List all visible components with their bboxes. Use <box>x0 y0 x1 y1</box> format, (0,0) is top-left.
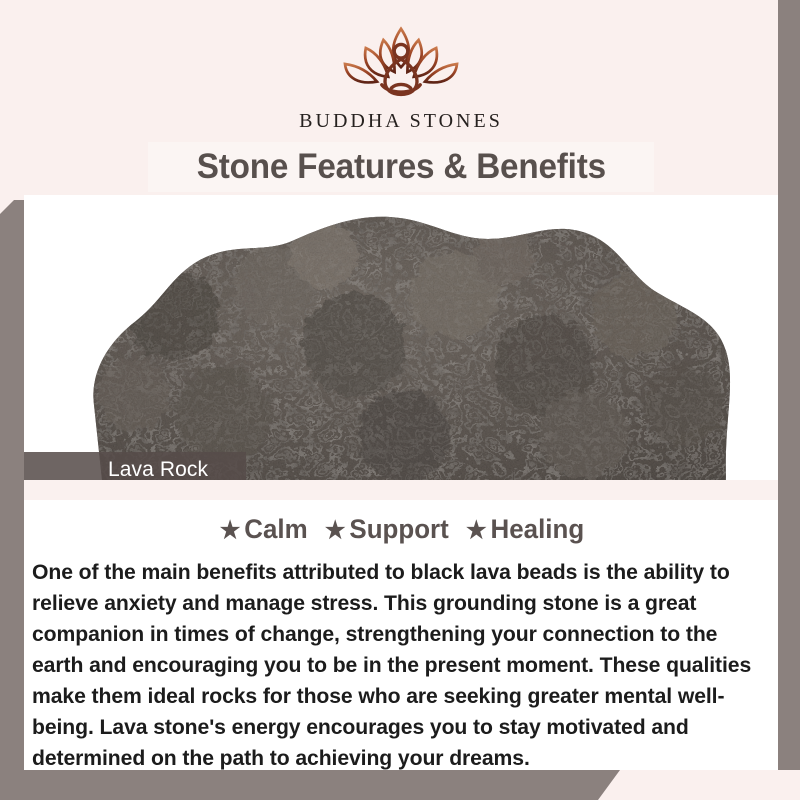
benefit-item-support: Support <box>349 514 448 544</box>
description-text: One of the main benefits attributed to b… <box>32 557 759 774</box>
benefit-item-calm: Calm <box>244 514 307 544</box>
brand-name: BUDDHA STONES <box>24 110 778 133</box>
benefits-list: ★Calm★Support★Healing <box>39 514 763 545</box>
lotus-meditation-figure-icon <box>321 16 481 108</box>
poster: BUDDHA STONES Stone Features & Benefits <box>0 0 800 800</box>
frame-band-right <box>778 30 800 770</box>
title-ribbon: Stone Features & Benefits <box>148 142 654 192</box>
benefit-item-healing: Healing <box>491 514 585 544</box>
frame-band-left <box>0 200 24 800</box>
star-icon: ★ <box>220 517 241 544</box>
star-icon: ★ <box>466 517 487 544</box>
lava-rock-photo <box>24 195 778 480</box>
star-icon: ★ <box>325 517 346 544</box>
product-caption: Lava Rock <box>108 458 208 482</box>
brand-logo: BUDDHA STONES <box>24 16 778 133</box>
page-title: Stone Features & Benefits <box>196 147 605 187</box>
section-divider <box>24 480 778 500</box>
frame-band-bottom <box>0 770 620 800</box>
product-photo <box>24 195 778 480</box>
description-panel: ★Calm★Support★Healing One of the main be… <box>24 500 778 770</box>
